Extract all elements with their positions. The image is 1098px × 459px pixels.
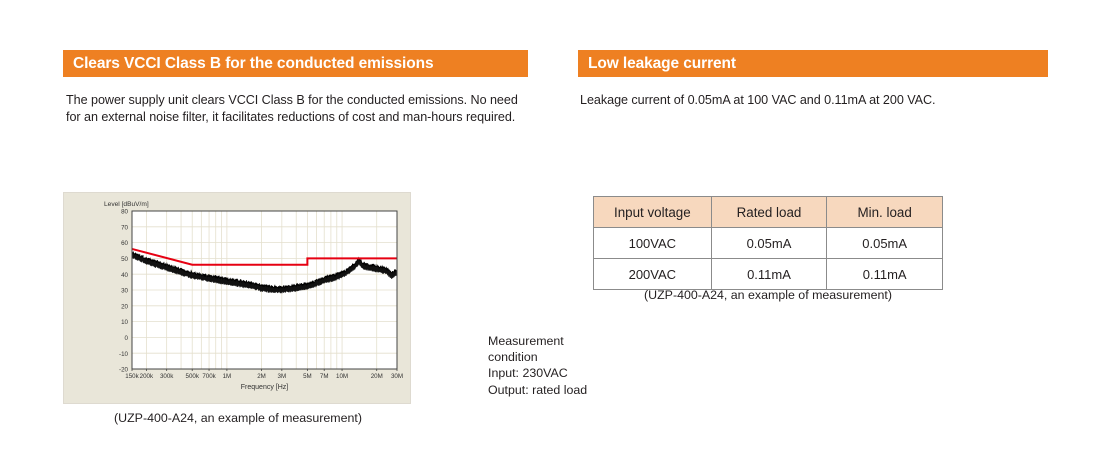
conducted-emissions-description: The power supply unit clears VCCI Class … [66, 92, 528, 125]
column-header-min-load: Min. load [827, 197, 943, 228]
x-axis-tick-label: 150k [125, 373, 139, 380]
cell-rated-load: 0.05mA [711, 228, 827, 259]
y-axis-tick-label: 0 [125, 335, 129, 342]
cell-input-voltage: 200VAC [594, 259, 712, 290]
leakage-current-table: Input voltage Rated load Min. load 100VA… [593, 196, 943, 290]
x-axis-tick-label: 30M [391, 373, 403, 380]
y-axis-tick-label: 70 [121, 224, 128, 231]
x-axis-tick-label: 200k [140, 373, 154, 380]
table-row: 100VAC 0.05mA 0.05mA [594, 228, 943, 259]
y-axis-tick-label: 50 [121, 256, 128, 263]
emi-chart-frame: 80706050403020100-10-20150k200k300k500k7… [63, 192, 411, 404]
low-leakage-description: Leakage current of 0.05mA at 100 VAC and… [580, 92, 1030, 109]
panel-low-leakage-current: Low leakage current Leakage current of 0… [578, 0, 1048, 459]
cell-min-load: 0.05mA [827, 228, 943, 259]
emi-chart-caption: (UZP-400-A24, an example of measurement) [63, 411, 413, 425]
y-axis-tick-label: 60 [121, 240, 128, 247]
cell-rated-load: 0.11mA [711, 259, 827, 290]
x-axis-tick-label: 10M [336, 373, 348, 380]
y-axis-tick-label: 10 [121, 319, 128, 326]
x-axis-tick-label: 5M [303, 373, 312, 380]
cell-min-load: 0.11mA [827, 259, 943, 290]
section-header-low-leakage-current: Low leakage current [578, 50, 1048, 77]
x-axis-tick-label: 7M [320, 373, 329, 380]
x-axis-tick-label: 2M [257, 373, 266, 380]
x-axis-tick-label: 1M [223, 373, 232, 380]
x-axis-tick-label: 300k [160, 373, 174, 380]
leakage-table-caption: (UZP-400-A24, an example of measurement) [593, 288, 943, 302]
column-header-rated-load: Rated load [711, 197, 827, 228]
x-axis-tick-label: 700k [202, 373, 216, 380]
y-axis-tick-label: 40 [121, 272, 128, 279]
section-header-conducted-emissions: Clears VCCI Class B for the conducted em… [63, 50, 528, 77]
panel-conducted-emissions: Clears VCCI Class B for the conducted em… [63, 0, 528, 459]
column-header-input-voltage: Input voltage [594, 197, 712, 228]
x-axis-tick-label: 3M [278, 373, 287, 380]
emi-chart-svg: 80706050403020100-10-20150k200k300k500k7… [64, 193, 410, 403]
cell-input-voltage: 100VAC [594, 228, 712, 259]
x-axis-tick-label: 20M [371, 373, 383, 380]
x-axis-tick-label: 500k [186, 373, 200, 380]
table-header-row: Input voltage Rated load Min. load [594, 197, 943, 228]
y-axis-tick-label: 20 [121, 303, 128, 310]
y-axis-tick-label: -10 [119, 351, 129, 358]
y-axis-tick-label: 30 [121, 288, 128, 295]
y-axis-title: Level [dBuV/m] [104, 201, 149, 208]
x-axis-title: Frequency [Hz] [241, 384, 289, 391]
emi-chart-figure: 80706050403020100-10-20150k200k300k500k7… [63, 192, 413, 404]
leakage-current-table-wrap: Input voltage Rated load Min. load 100VA… [593, 196, 943, 290]
table-row: 200VAC 0.11mA 0.11mA [594, 259, 943, 290]
y-axis-tick-label: 80 [121, 209, 128, 216]
